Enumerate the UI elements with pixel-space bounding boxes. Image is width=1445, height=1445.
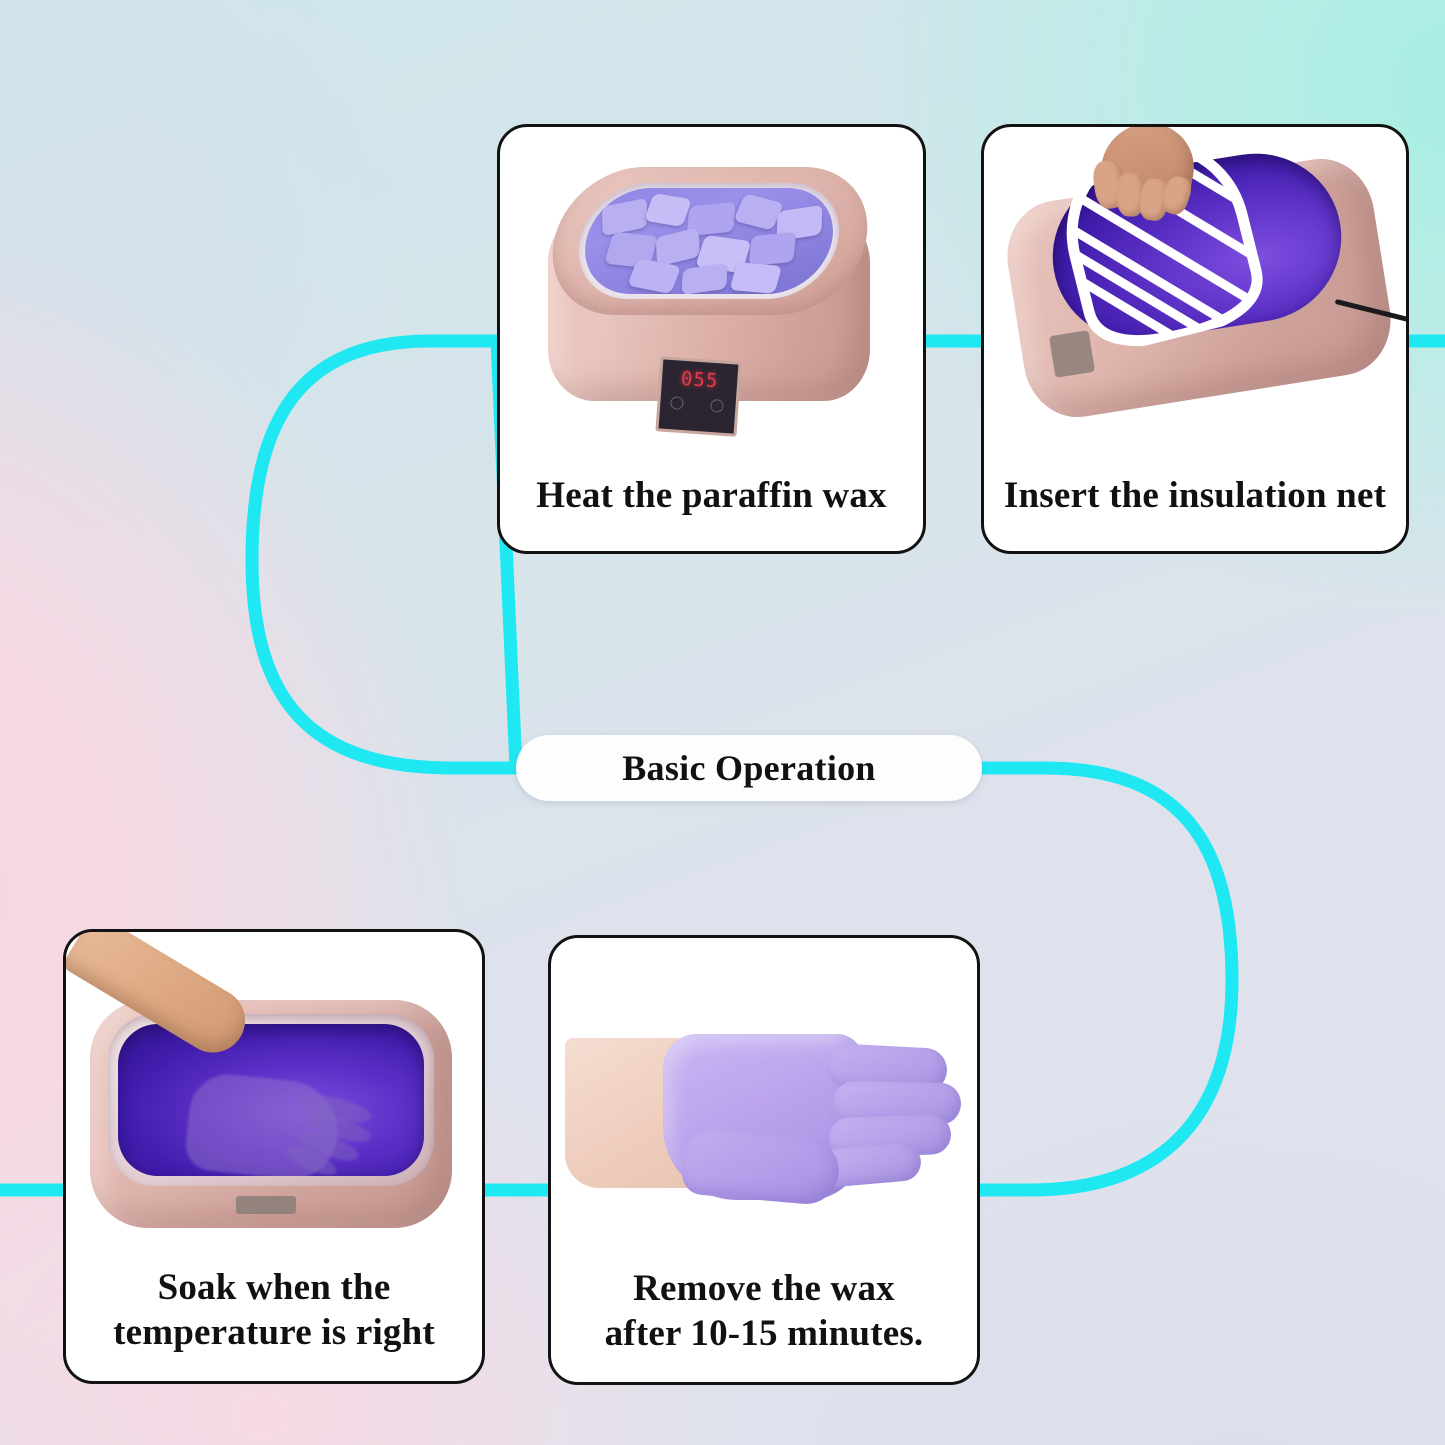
step-caption-insulation-net: Insert the insulation net	[984, 470, 1406, 551]
step-photo-remove	[551, 938, 977, 1265]
connector-curve-left	[252, 341, 516, 768]
step-card-soak[interactable]: Soak when the temperature is right	[63, 929, 485, 1384]
warmer-control-panel: 055	[655, 356, 741, 437]
step-photo-heat: 055	[500, 127, 923, 470]
control-button-right	[710, 399, 724, 413]
center-label-text: Basic Operation	[622, 747, 876, 789]
warmer-panel	[236, 1196, 296, 1214]
wax-warmer-soaking-illustration	[84, 976, 458, 1242]
step-caption-remove-line-1: Remove the wax	[551, 1267, 977, 1311]
melted-wax-pool	[118, 1024, 424, 1176]
step-caption-heat: Heat the paraffin wax	[500, 470, 923, 551]
step-caption-soak-line-1: Soak when the	[66, 1266, 482, 1310]
step-card-heat[interactable]: 055 Heat the paraffin wax	[497, 124, 926, 554]
step-caption-remove-line-2: after 10-15 minutes.	[551, 1312, 977, 1356]
step-caption-soak-line-2: temperature is right	[66, 1311, 482, 1355]
wax-coated-thumb	[680, 1127, 841, 1206]
hand-holding-net	[1095, 127, 1201, 216]
waxed-hand-illustration	[565, 1016, 961, 1222]
center-label-pill: Basic Operation	[516, 735, 982, 801]
step-caption-remove: Remove the wax after 10-15 minutes.	[551, 1265, 977, 1382]
wax-pool	[576, 188, 843, 294]
step-photo-soak	[66, 932, 482, 1264]
connector-curve-right	[980, 768, 1232, 1190]
temperature-display: 055	[680, 368, 719, 393]
wax-warmer-illustration: 055	[540, 163, 890, 413]
step-card-insulation-net[interactable]: Insert the insulation net	[981, 124, 1409, 554]
wax-warmer-with-net-illustration	[1008, 137, 1396, 425]
step-photo-insulation-net	[984, 127, 1406, 470]
step-caption-soak: Soak when the temperature is right	[66, 1264, 482, 1381]
step-card-remove[interactable]: Remove the wax after 10-15 minutes.	[548, 935, 980, 1385]
control-button-left	[670, 396, 684, 410]
